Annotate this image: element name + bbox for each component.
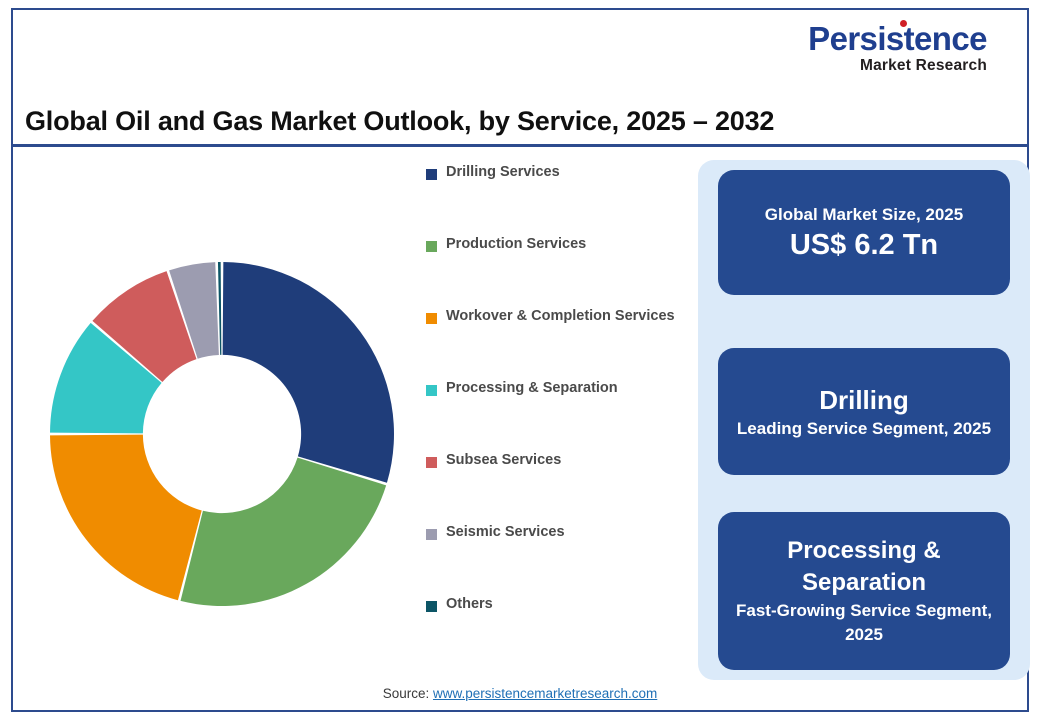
title-divider	[11, 144, 1029, 147]
legend-label: Seismic Services	[446, 519, 565, 546]
card-caption: Fast-Growing Service Segment, 2025	[718, 599, 1010, 647]
legend-label: Production Services	[446, 231, 586, 258]
card-fastest-growing-segment: Processing & Separation Fast-Growing Ser…	[718, 512, 1010, 670]
card-value: US$ 6.2 Tn	[780, 227, 948, 263]
brand-tagline: Market Research	[795, 57, 1000, 74]
slide-root: Persistence Market Research Global Oil a…	[0, 0, 1040, 720]
brand-logo: Persistence Market Research	[795, 22, 1000, 74]
page-title: Global Oil and Gas Market Outlook, by Se…	[25, 106, 774, 137]
card-value: Processing & Separation	[718, 535, 1010, 599]
frame-border-bottom	[11, 710, 1029, 712]
legend-swatch-icon	[426, 601, 437, 612]
legend-label: Drilling Services	[446, 159, 560, 186]
legend-swatch-icon	[426, 313, 437, 324]
donut-chart	[30, 240, 420, 630]
frame-border-top	[11, 8, 1029, 10]
legend-label: Others	[446, 591, 493, 618]
donut-slice[interactable]	[181, 458, 387, 606]
legend-swatch-icon	[426, 385, 437, 396]
legend-label: Workover & Completion Services	[446, 303, 675, 330]
donut-slice[interactable]	[50, 435, 202, 601]
legend-label: Subsea Services	[446, 447, 561, 474]
legend-item-others[interactable]: Others	[426, 597, 686, 669]
legend-item-workover-completion-services[interactable]: Workover & Completion Services	[426, 309, 686, 381]
source-label: Source:	[383, 686, 433, 701]
brand-dot-icon	[900, 20, 907, 27]
legend-label: Processing & Separation	[446, 375, 618, 402]
legend-item-processing-separation[interactable]: Processing & Separation	[426, 381, 686, 453]
card-caption: Leading Service Segment, 2025	[725, 417, 1003, 441]
legend-swatch-icon	[426, 457, 437, 468]
legend-swatch-icon	[426, 529, 437, 540]
chart-legend: Drilling Services Production Services Wo…	[426, 165, 686, 669]
legend-item-production-services[interactable]: Production Services	[426, 237, 686, 309]
source-footer: Source: www.persistencemarketresearch.co…	[0, 686, 1040, 701]
card-caption: Global Market Size, 2025	[753, 203, 975, 227]
donut-slice[interactable]	[223, 262, 394, 483]
card-leading-segment: Drilling Leading Service Segment, 2025	[718, 348, 1010, 475]
donut-slice[interactable]	[218, 262, 221, 355]
legend-item-subsea-services[interactable]: Subsea Services	[426, 453, 686, 525]
legend-item-drilling-services[interactable]: Drilling Services	[426, 165, 686, 237]
legend-swatch-icon	[426, 241, 437, 252]
legend-item-seismic-services[interactable]: Seismic Services	[426, 525, 686, 597]
card-value: Drilling	[809, 383, 919, 417]
card-global-market-size: Global Market Size, 2025 US$ 6.2 Tn	[718, 170, 1010, 295]
brand-name: Persistence	[795, 22, 1000, 56]
legend-swatch-icon	[426, 169, 437, 180]
frame-border-left	[11, 8, 13, 712]
source-link[interactable]: www.persistencemarketresearch.com	[433, 686, 657, 701]
donut-chart-svg	[30, 240, 420, 630]
highlights-panel: Global Market Size, 2025 US$ 6.2 Tn Dril…	[698, 160, 1030, 680]
